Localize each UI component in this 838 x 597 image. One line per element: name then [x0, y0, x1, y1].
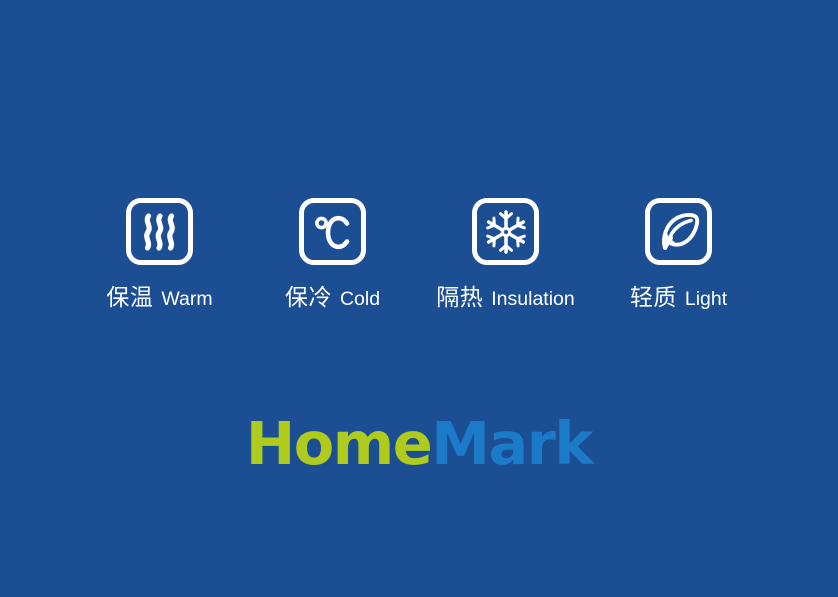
brand-logo[interactable]: HomeMark: [0, 414, 838, 473]
feature-label-en: Insulation: [491, 290, 574, 310]
feature-label-en: Cold: [340, 290, 380, 310]
feature-label-cold: 保冷 Cold: [285, 286, 380, 310]
snowflake-icon: [484, 210, 528, 254]
warm-icon-frame: [126, 198, 193, 265]
brand-logo-mark: Mark: [431, 409, 592, 478]
feature-label-en: Warm: [161, 290, 212, 310]
feature-item-light[interactable]: 轻质 Light: [592, 198, 765, 310]
leaf-feather-icon: [658, 211, 700, 253]
feature-label-cn: 轻质: [630, 286, 677, 309]
feature-item-insulation[interactable]: 隔热 Insulation: [419, 198, 592, 310]
feature-label-en: Light: [685, 290, 727, 310]
feature-label-cn: 隔热: [436, 286, 483, 309]
feature-label-cn: 保温: [106, 286, 153, 309]
feature-item-warm[interactable]: 保温 Warm: [73, 198, 246, 310]
insulation-icon-frame: [472, 198, 539, 265]
feature-label-cn: 保冷: [285, 286, 332, 309]
light-icon-frame: [645, 198, 712, 265]
feature-label-light: 轻质 Light: [630, 286, 727, 310]
heat-waves-icon: [141, 212, 179, 252]
poster-canvas: 保温 Warm 保冷 Cold: [0, 0, 838, 597]
celsius-degree-icon: [312, 212, 354, 252]
brand-logo-home: Home: [246, 409, 431, 478]
feature-label-warm: 保温 Warm: [106, 286, 212, 310]
feature-list: 保温 Warm 保冷 Cold: [0, 198, 838, 328]
feature-item-cold[interactable]: 保冷 Cold: [246, 198, 419, 310]
feature-label-insulation: 隔热 Insulation: [436, 286, 574, 310]
cold-icon-frame: [299, 198, 366, 265]
